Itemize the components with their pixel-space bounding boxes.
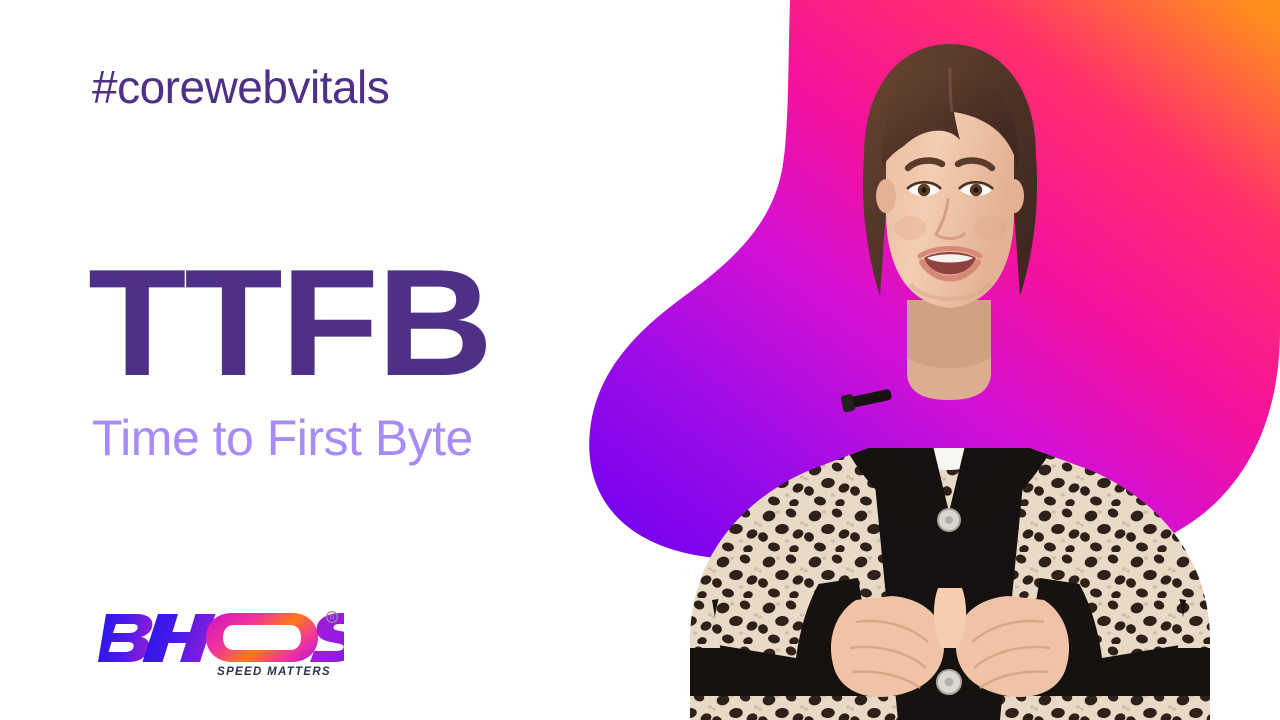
subtitle: Time to First Byte <box>92 409 473 468</box>
bhoost-logo: R SPEED MATTERS <box>96 606 344 678</box>
neck-shadow <box>907 300 991 368</box>
mouth <box>920 249 980 279</box>
hashtag-label: #corewebvitals <box>92 64 389 110</box>
left-text-column: #corewebvitals TTFB Time to First Byte <box>0 0 620 720</box>
ear-left <box>876 179 896 213</box>
logo-tagline: SPEED MATTERS <box>217 666 331 678</box>
page-title: TTFB <box>88 247 491 399</box>
slide-root: #corewebvitals TTFB Time to First Byte <box>0 0 1280 720</box>
logo-wordmark-left <box>98 614 216 662</box>
ear-right <box>1004 179 1024 213</box>
lapel-microphone <box>840 386 892 413</box>
svg-text:R: R <box>329 615 334 622</box>
presenter-figure <box>620 0 1280 720</box>
logo-pill-oo <box>206 613 318 662</box>
